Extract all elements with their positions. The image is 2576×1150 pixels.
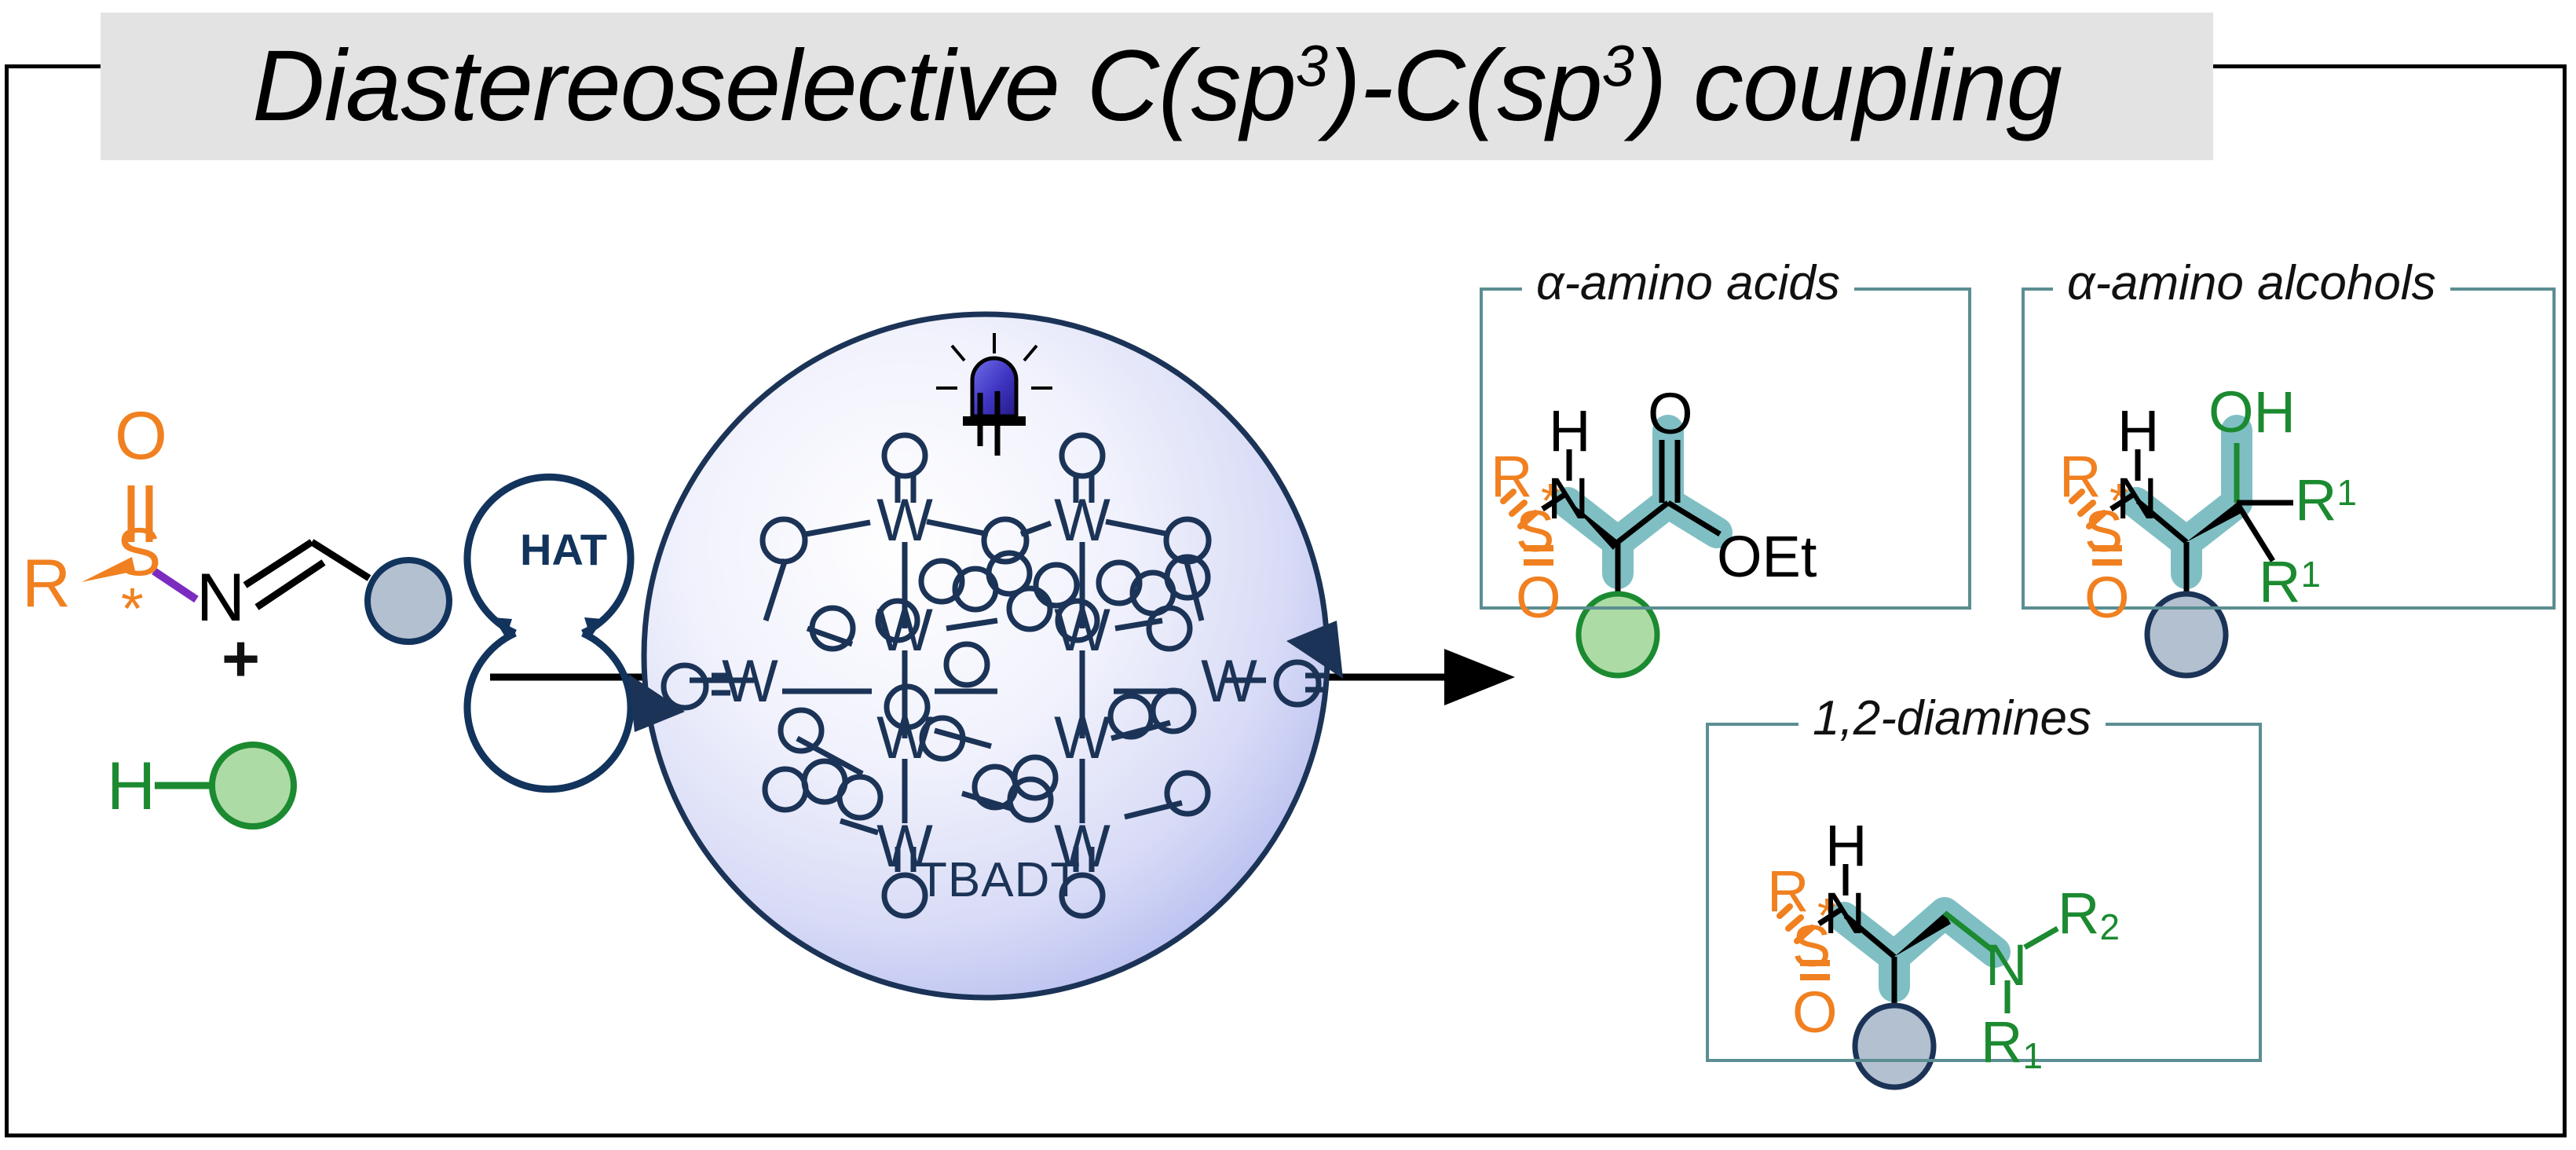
acids-ester-label: OEt [1717,528,1817,586]
reactant-sulfinyl-o-label: O [115,402,167,470]
h-donor-h-label: H [107,753,156,820]
acids-carbonyl-o-label: O [1648,385,1693,443]
alcohols-r-label: R [2059,448,2101,506]
diamines-n-right-label: N [1985,936,2027,994]
diamines-r2-label: R2 [2058,884,2120,943]
acids-sulfinyl-o-label: O [1516,569,1561,627]
diamines-h-label: H [1825,817,1867,875]
plus-sign: + [221,621,260,697]
graphical-abstract-canvas: W W W W W W W W W W [0,0,2576,1150]
tbadt-label: TBADT [917,856,1081,905]
acids-r-label: R [1491,448,1532,506]
title-banner: Diastereoselective C(sp3)-C(sp3) couplin… [101,13,2213,160]
alcohols-r1-top-label: R1 [2295,471,2357,529]
alcohols-oh-label: OH [2208,383,2296,441]
alcohols-h-label: H [2117,402,2159,460]
alcohols-sulfinyl-o-label: O [2084,569,2130,627]
alcohols-n-label: N [2116,470,2157,528]
page-title: Diastereoselective C(sp3)-C(sp3) couplin… [252,36,2062,137]
acids-h-label: H [1549,402,1590,460]
reactant-r-label: R [22,550,71,617]
hat-label: HAT [520,528,607,572]
diamines-sulfinyl-o-label: O [1792,983,1838,1042]
product-legend-diamines: 1,2-diamines [1798,694,2106,743]
reactant-stereocenter-marker: * [121,580,144,638]
product-legend-amino-acids: α-amino acids [1522,259,1854,308]
diamines-n-left-label: N [1824,884,1865,943]
diamines-r1-label: R1 [1981,1013,2043,1071]
diamines-r-label: R [1767,862,1809,921]
product-legend-amino-alcohols: α-amino alcohols [2053,259,2450,308]
acids-n-label: N [1547,470,1589,528]
alcohols-r1-bottom-label: R1 [2259,553,2321,611]
